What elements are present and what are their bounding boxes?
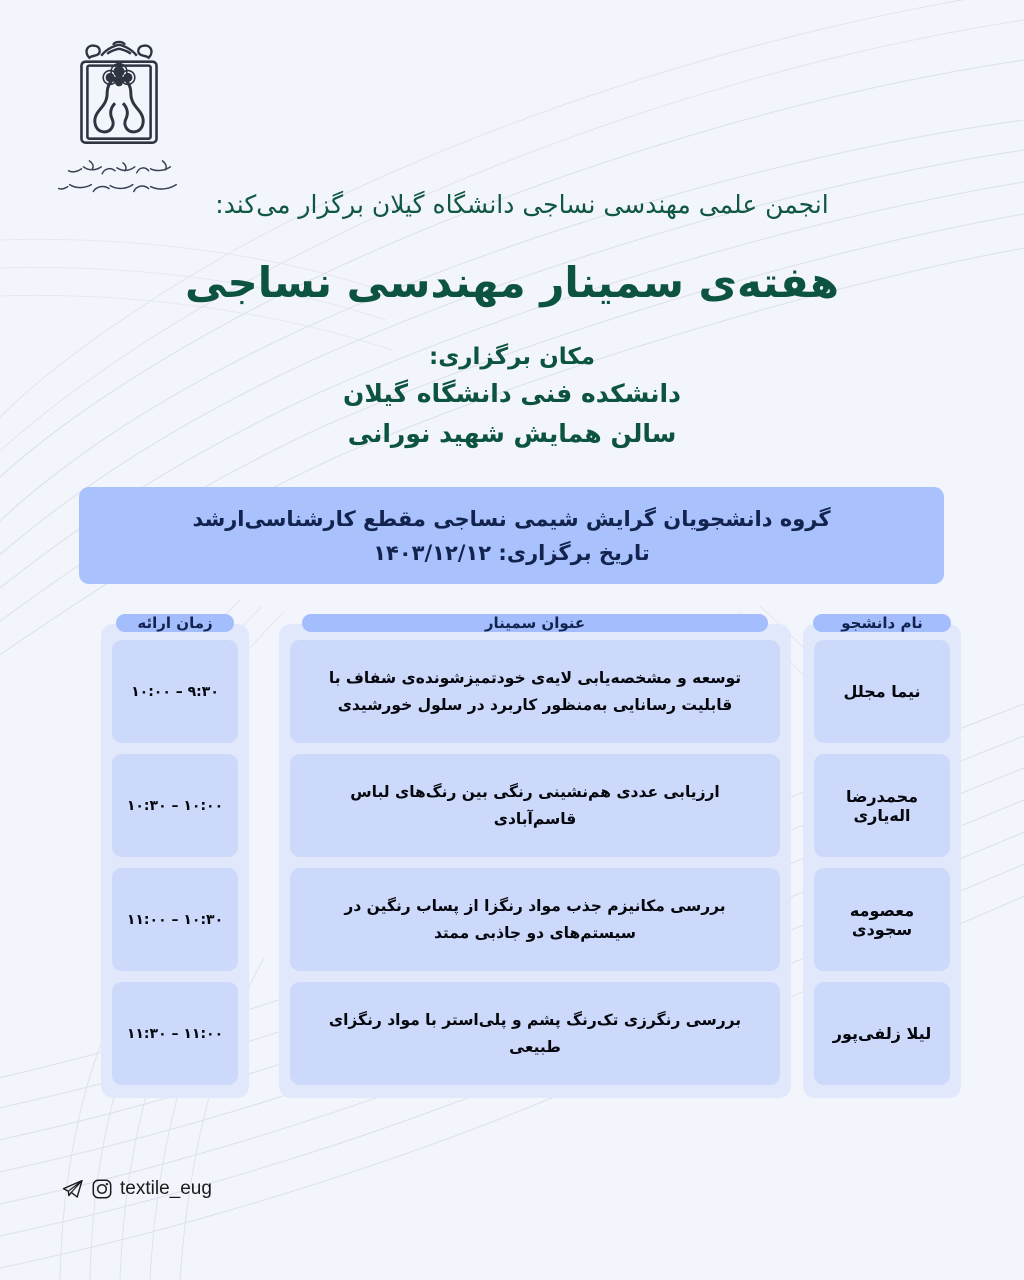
table-cell-title: بررسی مکانیزم جذب مواد رنگزا از پساب رنگ… bbox=[290, 868, 780, 971]
venue-line-1: دانشکده فنی دانشگاه گیلان bbox=[0, 374, 1024, 414]
table-cell-student: محمدرضا اله‌یاری bbox=[814, 754, 950, 857]
association-emblem-icon bbox=[67, 36, 171, 153]
banner-date-label: تاریخ برگزاری: ۱۴۰۳/۱۲/۱۲ bbox=[373, 541, 650, 565]
table-cell-time: ۱۱:۰۰ – ۱۰:۳۰ bbox=[112, 868, 238, 971]
column-header-title: عنوان سمینار bbox=[302, 614, 768, 632]
schedule-column-time: زمان ارائه ۱۰:۰۰ – ۹:۳۰ ۱۰:۳۰ – ۱۰:۰۰ ۱۱… bbox=[101, 614, 249, 1089]
table-cell-student: معصومه سجودی bbox=[814, 868, 950, 971]
venue-block: مکان برگزاری: دانشکده فنی دانشگاه گیلان … bbox=[0, 340, 1024, 454]
social-footer: textile_eug bbox=[62, 1178, 212, 1200]
table-cell-time: ۱۰:۳۰ – ۱۰:۰۰ bbox=[112, 754, 238, 857]
venue-label: مکان برگزاری: bbox=[0, 340, 1024, 374]
table-cell-student: لیلا زلفی‌پور bbox=[814, 982, 950, 1085]
telegram-icon[interactable] bbox=[62, 1179, 84, 1199]
column-body-time: ۱۰:۰۰ – ۹:۳۰ ۱۰:۳۰ – ۱۰:۰۰ ۱۱:۰۰ – ۱۰:۳۰… bbox=[101, 624, 249, 1098]
column-header-student: نام دانشجو bbox=[813, 614, 951, 632]
instagram-icon[interactable] bbox=[92, 1179, 112, 1199]
column-header-time: زمان ارائه bbox=[116, 614, 234, 632]
poster-canvas: انجمن علمی مهندسی نساجی دانشگاه گیلان بر… bbox=[0, 0, 1024, 1280]
group-info-banner: گروه دانشجویان گرایش شیمی نساجی مقطع کار… bbox=[79, 487, 944, 584]
schedule-column-student: نام دانشجو نیما مجلل محمدرضا اله‌یاری مع… bbox=[803, 614, 961, 1089]
social-handle[interactable]: textile_eug bbox=[120, 1178, 212, 1200]
page-title: هفته‌ی سمینار مهندسی نساجی bbox=[0, 258, 1024, 307]
table-cell-title: بررسی رنگرزی تک‌رنگ پشم و پلی‌استر با مو… bbox=[290, 982, 780, 1085]
table-cell-time: ۱۰:۰۰ – ۹:۳۰ bbox=[112, 640, 238, 743]
column-body-student: نیما مجلل محمدرضا اله‌یاری معصومه سجودی … bbox=[803, 624, 961, 1098]
association-logo bbox=[44, 36, 194, 196]
table-cell-student: نیما مجلل bbox=[814, 640, 950, 743]
table-cell-title: توسعه و مشخصه‌یابی لایه‌ی خودتمیزشونده‌ی… bbox=[290, 640, 780, 743]
column-body-title: توسعه و مشخصه‌یابی لایه‌ی خودتمیزشونده‌ی… bbox=[279, 624, 791, 1098]
schedule-column-title: عنوان سمینار توسعه و مشخصه‌یابی لایه‌ی خ… bbox=[279, 614, 791, 1089]
venue-line-2: سالن همایش شهید نورانی bbox=[0, 414, 1024, 454]
table-cell-time: ۱۱:۳۰ – ۱۱:۰۰ bbox=[112, 982, 238, 1085]
table-cell-title: ارزیابی عددی هم‌نشینی رنگی بین رنگ‌های ل… bbox=[290, 754, 780, 857]
banner-group-label: گروه دانشجویان گرایش شیمی نساجی مقطع کار… bbox=[192, 507, 830, 531]
intro-line: انجمن علمی مهندسی نساجی دانشگاه گیلان بر… bbox=[0, 190, 1024, 219]
schedule-table: نام دانشجو نیما مجلل محمدرضا اله‌یاری مع… bbox=[63, 614, 961, 1089]
